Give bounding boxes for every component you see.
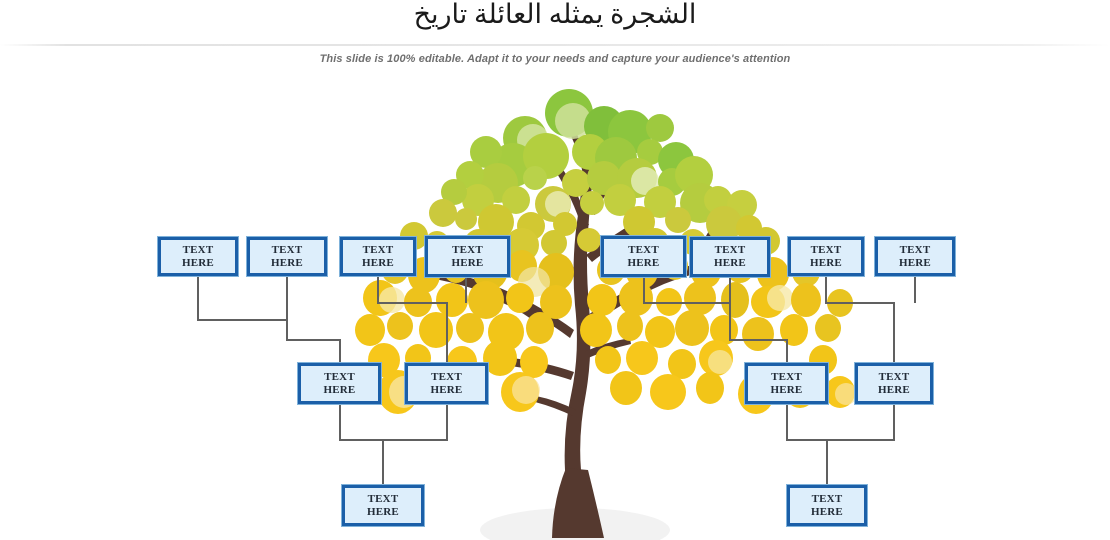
node-label-line1: TEXT (183, 244, 214, 257)
slide-canvas: الشجرة يمثله العائلة تاريخ This slide is… (0, 0, 1110, 540)
node-box-b1[interactable]: TEXTHERE (342, 485, 424, 526)
node-label-line2: HERE (810, 257, 842, 270)
node-label-line2: HERE (324, 384, 356, 397)
node-box-m1[interactable]: TEXTHERE (298, 363, 381, 404)
node-label-line2: HERE (628, 257, 660, 270)
node-label-line2: HERE (771, 384, 803, 397)
node-box-t5[interactable]: TEXTHERE (601, 236, 686, 277)
node-box-m2[interactable]: TEXTHERE (405, 363, 488, 404)
node-label-line1: TEXT (771, 371, 802, 384)
node-label-line2: HERE (899, 257, 931, 270)
node-box-b2[interactable]: TEXTHERE (787, 485, 867, 526)
header-divider (0, 44, 1110, 46)
node-label-line1: TEXT (715, 244, 746, 257)
node-label-line1: TEXT (431, 371, 462, 384)
node-label-line1: TEXT (628, 244, 659, 257)
page-title: الشجرة يمثله العائلة تاريخ (0, 0, 1110, 34)
node-label-line2: HERE (878, 384, 910, 397)
node-label-line1: TEXT (272, 244, 303, 257)
node-label-line2: HERE (271, 257, 303, 270)
node-box-t4[interactable]: TEXTHERE (425, 236, 510, 277)
node-box-t8[interactable]: TEXTHERE (875, 237, 955, 276)
node-label-line2: HERE (182, 257, 214, 270)
node-box-t3[interactable]: TEXTHERE (340, 237, 416, 276)
node-box-m3[interactable]: TEXTHERE (745, 363, 828, 404)
node-label-line1: TEXT (368, 493, 399, 506)
node-label-line1: TEXT (324, 371, 355, 384)
node-label-line2: HERE (362, 257, 394, 270)
node-label-line2: HERE (431, 384, 463, 397)
node-label-line1: TEXT (812, 493, 843, 506)
node-label-line2: HERE (452, 257, 484, 270)
node-label-line1: TEXT (900, 244, 931, 257)
node-box-t7[interactable]: TEXTHERE (788, 237, 864, 276)
page-subtitle: This slide is 100% editable. Adapt it to… (0, 53, 1110, 65)
node-box-t2[interactable]: TEXTHERE (247, 237, 327, 276)
node-label-line1: TEXT (811, 244, 842, 257)
node-box-t1[interactable]: TEXTHERE (158, 237, 238, 276)
node-label-line1: TEXT (879, 371, 910, 384)
node-label-line1: TEXT (363, 244, 394, 257)
node-label-line2: HERE (811, 506, 843, 519)
node-box-t6[interactable]: TEXTHERE (690, 237, 770, 277)
node-box-m4[interactable]: TEXTHERE (855, 363, 933, 404)
node-label-line2: HERE (367, 506, 399, 519)
node-label-line1: TEXT (452, 244, 483, 257)
node-label-line2: HERE (714, 257, 746, 270)
